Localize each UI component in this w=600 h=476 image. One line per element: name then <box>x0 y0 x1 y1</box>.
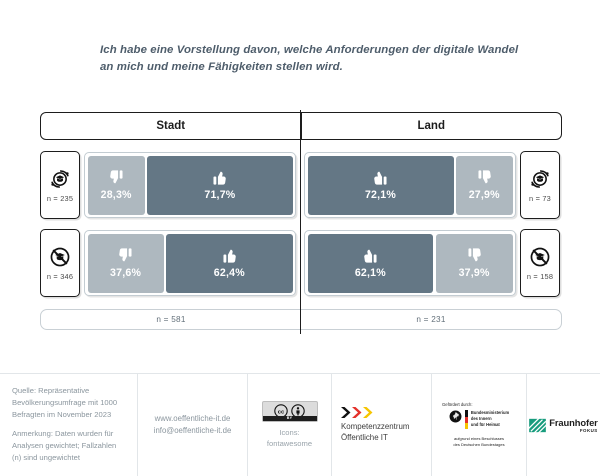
footer-ministry-block: Gefördert durch: Bundesministerium des I… <box>432 374 527 476</box>
bundestag-line2: des Deutschen Bundestages <box>453 442 504 447</box>
totals-row: n = 581 n = 231 <box>40 309 562 330</box>
row2-right-n: n = 158 <box>527 272 553 281</box>
kompetenzzentrum-line1: Kompetenzzentrum <box>341 422 409 431</box>
german-flag-bar <box>465 410 468 429</box>
column-header-stadt: Stadt <box>41 113 302 139</box>
chevrons-icon <box>341 407 431 418</box>
row1-right-n: n = 73 <box>529 194 551 203</box>
fraunhofer-logo-icon <box>529 418 546 433</box>
footer-source: Quelle: Repräsentative Bevölkerungsumfra… <box>12 385 127 420</box>
row2-left-agree-segment[interactable]: 62,4% <box>166 234 292 293</box>
kompetenzzentrum-line2: Öffentliche IT <box>341 433 388 442</box>
column-header-row: Stadt Land <box>40 112 562 140</box>
row2-right-bars: 62,1% 37,9% <box>304 230 516 296</box>
footer-contact-block: www.oeffentliche-it.de info@oeffentliche… <box>138 374 248 476</box>
ministry-line3: und für Heimat <box>471 422 509 428</box>
graduation-cap-prohibited-icon <box>48 245 72 269</box>
bundestag-line1: aufgrund eines Beschlusses <box>454 436 504 441</box>
funded-by-label: Gefördert durch: <box>442 402 473 407</box>
row2-right-icon-box: n = 158 <box>520 229 560 297</box>
row1-left-agree-value: 71,7% <box>204 189 235 201</box>
thumbs-down-icon <box>108 169 125 186</box>
graduation-cap-prohibited-icon <box>528 245 552 269</box>
thumbs-down-icon <box>466 247 483 264</box>
infographic: Ich habe eine Vorstellung davon, welche … <box>0 0 600 475</box>
thumbs-up-icon <box>221 247 238 264</box>
page-title: Ich habe eine Vorstellung davon, welche … <box>100 42 520 75</box>
total-land: n = 231 <box>301 310 561 329</box>
row1-left-icon-box: n = 235 <box>40 151 80 219</box>
row2-left-disagree-segment[interactable]: 37,6% <box>88 234 164 293</box>
row2-left-icon-box: n = 346 <box>40 229 80 297</box>
bundesadler-icon <box>449 410 462 423</box>
row1-right-agree-value: 72,1% <box>365 189 396 201</box>
row1-right-disagree-value: 27,9% <box>469 189 500 201</box>
thumbs-down-icon <box>117 247 134 264</box>
website-link[interactable]: www.oeffentliche-it.de <box>155 413 231 425</box>
row2-right-disagree-value: 37,9% <box>459 267 490 279</box>
row2-left-bars: 37,6% 62,4% <box>84 230 296 296</box>
footer-license-block: cc BY Icons: fontawesome <box>248 374 332 476</box>
row1-left-agree-segment[interactable]: 71,7% <box>147 156 292 215</box>
thumbs-up-icon <box>211 169 228 186</box>
row1-right-disagree-segment[interactable]: 27,9% <box>456 156 513 215</box>
graduation-cap-refresh-icon <box>528 167 552 191</box>
fraunhofer-wordmark: Fraunhofer <box>549 417 597 428</box>
center-divider <box>300 110 301 334</box>
footer-fraunhofer-block: Fraunhofer FOKUS <box>527 374 600 476</box>
column-header-land: Land <box>302 113 562 139</box>
chart-area: Stadt Land n = 235 <box>40 104 560 340</box>
row2-left-disagree-value: 37,6% <box>110 267 141 279</box>
row1-right-agree-segment[interactable]: 72,1% <box>308 156 454 215</box>
graduation-cap-refresh-icon <box>48 167 72 191</box>
row2-right-disagree-segment[interactable]: 37,9% <box>436 234 513 293</box>
thumbs-up-icon <box>362 247 379 264</box>
icons-credit-label: Icons: <box>279 428 299 437</box>
row1-left-n: n = 235 <box>47 194 73 203</box>
footer-note: Anmerkung: Daten wurden für Analysen gew… <box>12 428 127 463</box>
footer: Quelle: Repräsentative Bevölkerungsumfra… <box>0 373 600 476</box>
row2-left-n: n = 346 <box>47 272 73 281</box>
total-stadt: n = 581 <box>41 310 301 329</box>
row1-left-disagree-value: 28,3% <box>101 189 132 201</box>
row1-right-icon-box: n = 73 <box>520 151 560 219</box>
row2-right-agree-segment[interactable]: 62,1% <box>308 234 434 293</box>
email-link[interactable]: info@oeffentliche-it.de <box>154 425 232 437</box>
creative-commons-by-badge[interactable]: cc BY <box>262 401 318 422</box>
thumbs-down-icon <box>476 169 493 186</box>
footer-source-block: Quelle: Repräsentative Bevölkerungsumfra… <box>0 374 138 476</box>
icons-credit-source: fontawesome <box>267 439 312 448</box>
thumbs-up-icon <box>372 169 389 186</box>
row1-left-disagree-segment[interactable]: 28,3% <box>88 156 145 215</box>
cc-by-label: BY <box>263 416 317 421</box>
row2-left-agree-value: 62,4% <box>214 267 245 279</box>
row1-right-bars: 72,1% 27,9% <box>304 152 516 218</box>
row2-right-agree-value: 62,1% <box>355 267 386 279</box>
svg-text:cc: cc <box>278 409 285 415</box>
footer-kompetenzzentrum-block: Kompetenzzentrum Öffentliche IT <box>332 374 432 476</box>
row1-left-bars: 28,3% 71,7% <box>84 152 296 218</box>
fraunhofer-institute: FOKUS <box>580 428 598 433</box>
